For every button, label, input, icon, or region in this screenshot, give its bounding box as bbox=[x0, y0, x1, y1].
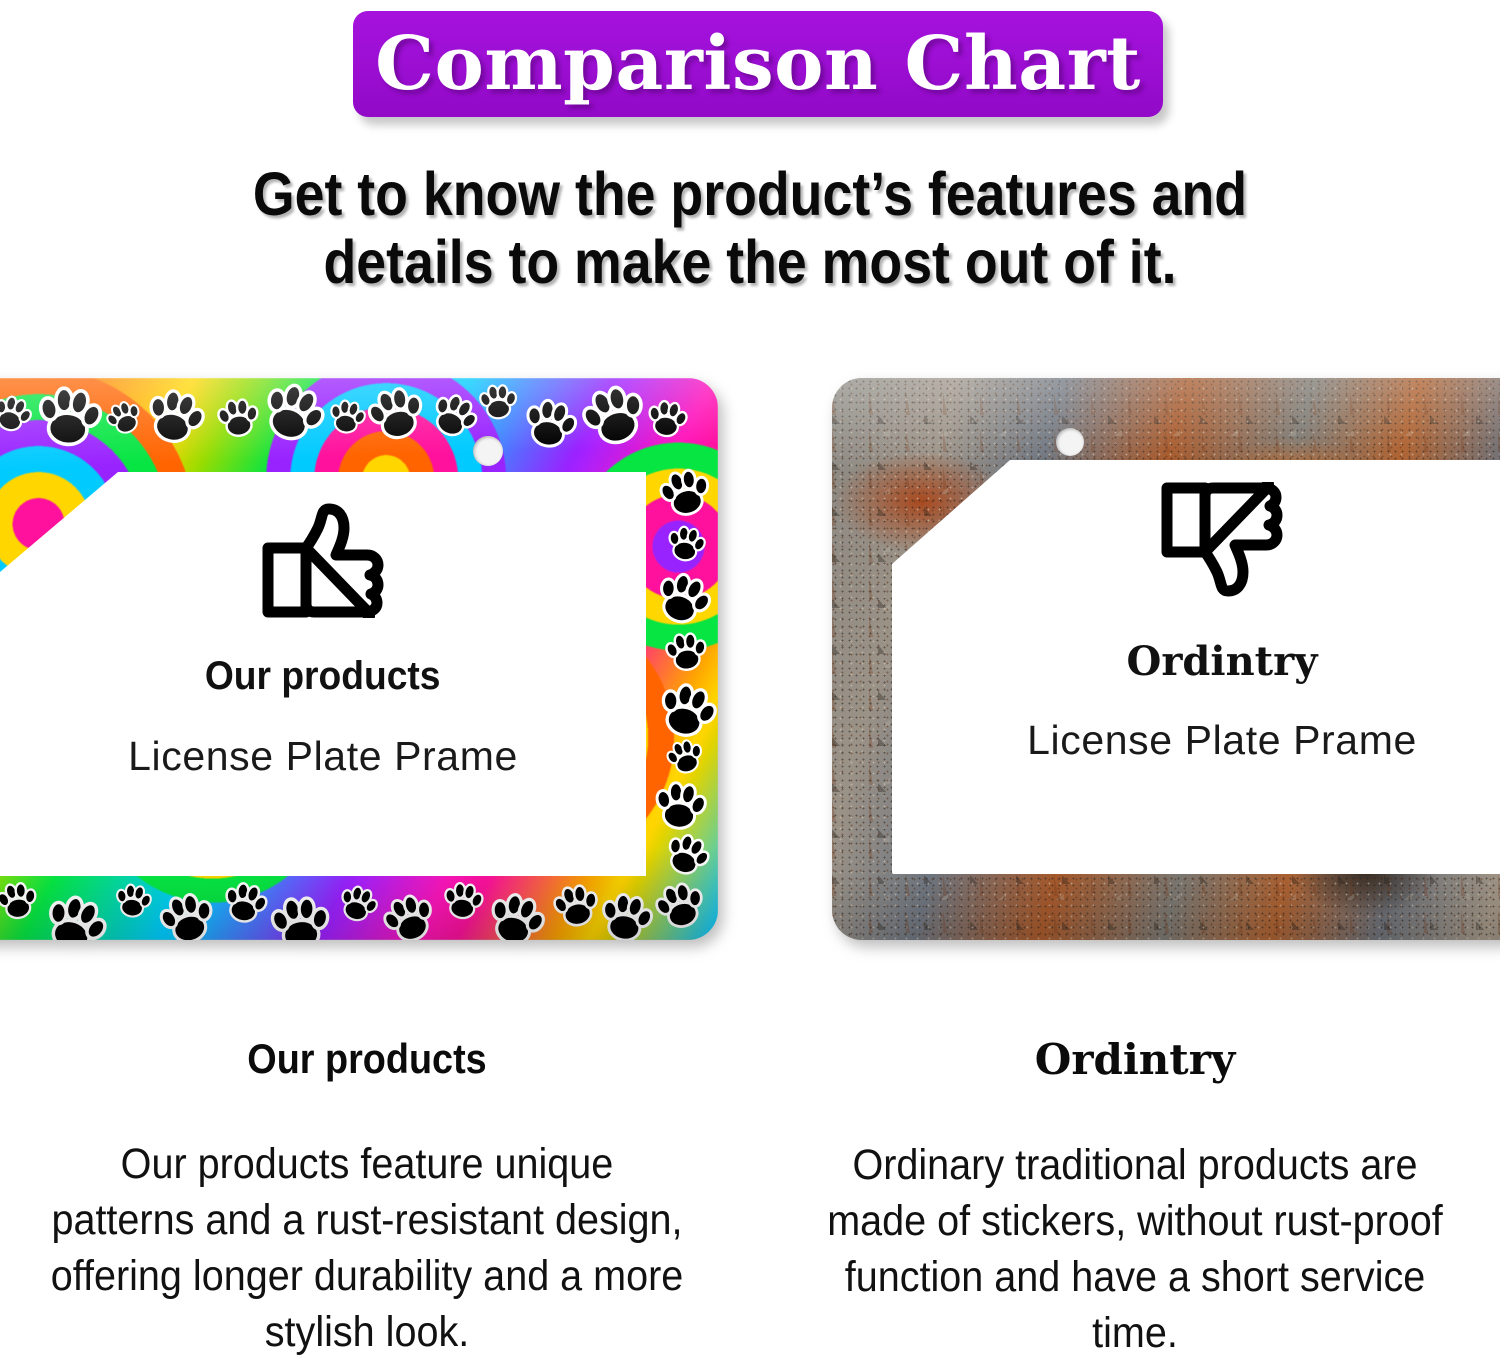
page-title: Comparison Chart bbox=[375, 27, 1141, 101]
plate-window-ordintry: Ordintry License Plate Prame bbox=[892, 460, 1500, 874]
plate-frame-ordintry: Ordintry License Plate Prame bbox=[832, 378, 1500, 940]
column-heading-ordintry: Ordintry bbox=[790, 1035, 1480, 1084]
plate-sublabel: License Plate Prame bbox=[128, 733, 518, 780]
plate-sublabel: License Plate Prame bbox=[1027, 717, 1417, 764]
mounting-hole-left bbox=[473, 436, 503, 466]
column-heading-our-products: Our products bbox=[57, 1035, 678, 1083]
plate-brand-label: Ordintry bbox=[1127, 638, 1318, 685]
subtitle-line-1: Get to know the product’s features and bbox=[90, 160, 1410, 228]
comparison-column-our-products: Our products Our products feature unique… bbox=[22, 1035, 712, 1361]
plate-window-our-products: Our products License Plate Prame bbox=[0, 472, 646, 876]
thumbs-down-icon bbox=[1159, 482, 1285, 600]
plate-frame-our-products: Our products License Plate Prame bbox=[0, 378, 718, 940]
comparison-column-ordintry: Ordintry Ordinary traditional products a… bbox=[790, 1035, 1480, 1362]
column-body-ordintry: Ordinary traditional products are made o… bbox=[818, 1138, 1453, 1362]
subtitle-line-2: details to make the most out of it. bbox=[90, 228, 1410, 296]
mounting-hole-right bbox=[1056, 428, 1084, 456]
subtitle: Get to know the product’s features and d… bbox=[0, 160, 1500, 297]
thumbs-up-icon bbox=[260, 500, 386, 618]
title-banner: Comparison Chart bbox=[353, 11, 1163, 117]
column-body-our-products: Our products feature unique patterns and… bbox=[50, 1137, 685, 1361]
plate-brand-label: Our products bbox=[205, 654, 441, 699]
